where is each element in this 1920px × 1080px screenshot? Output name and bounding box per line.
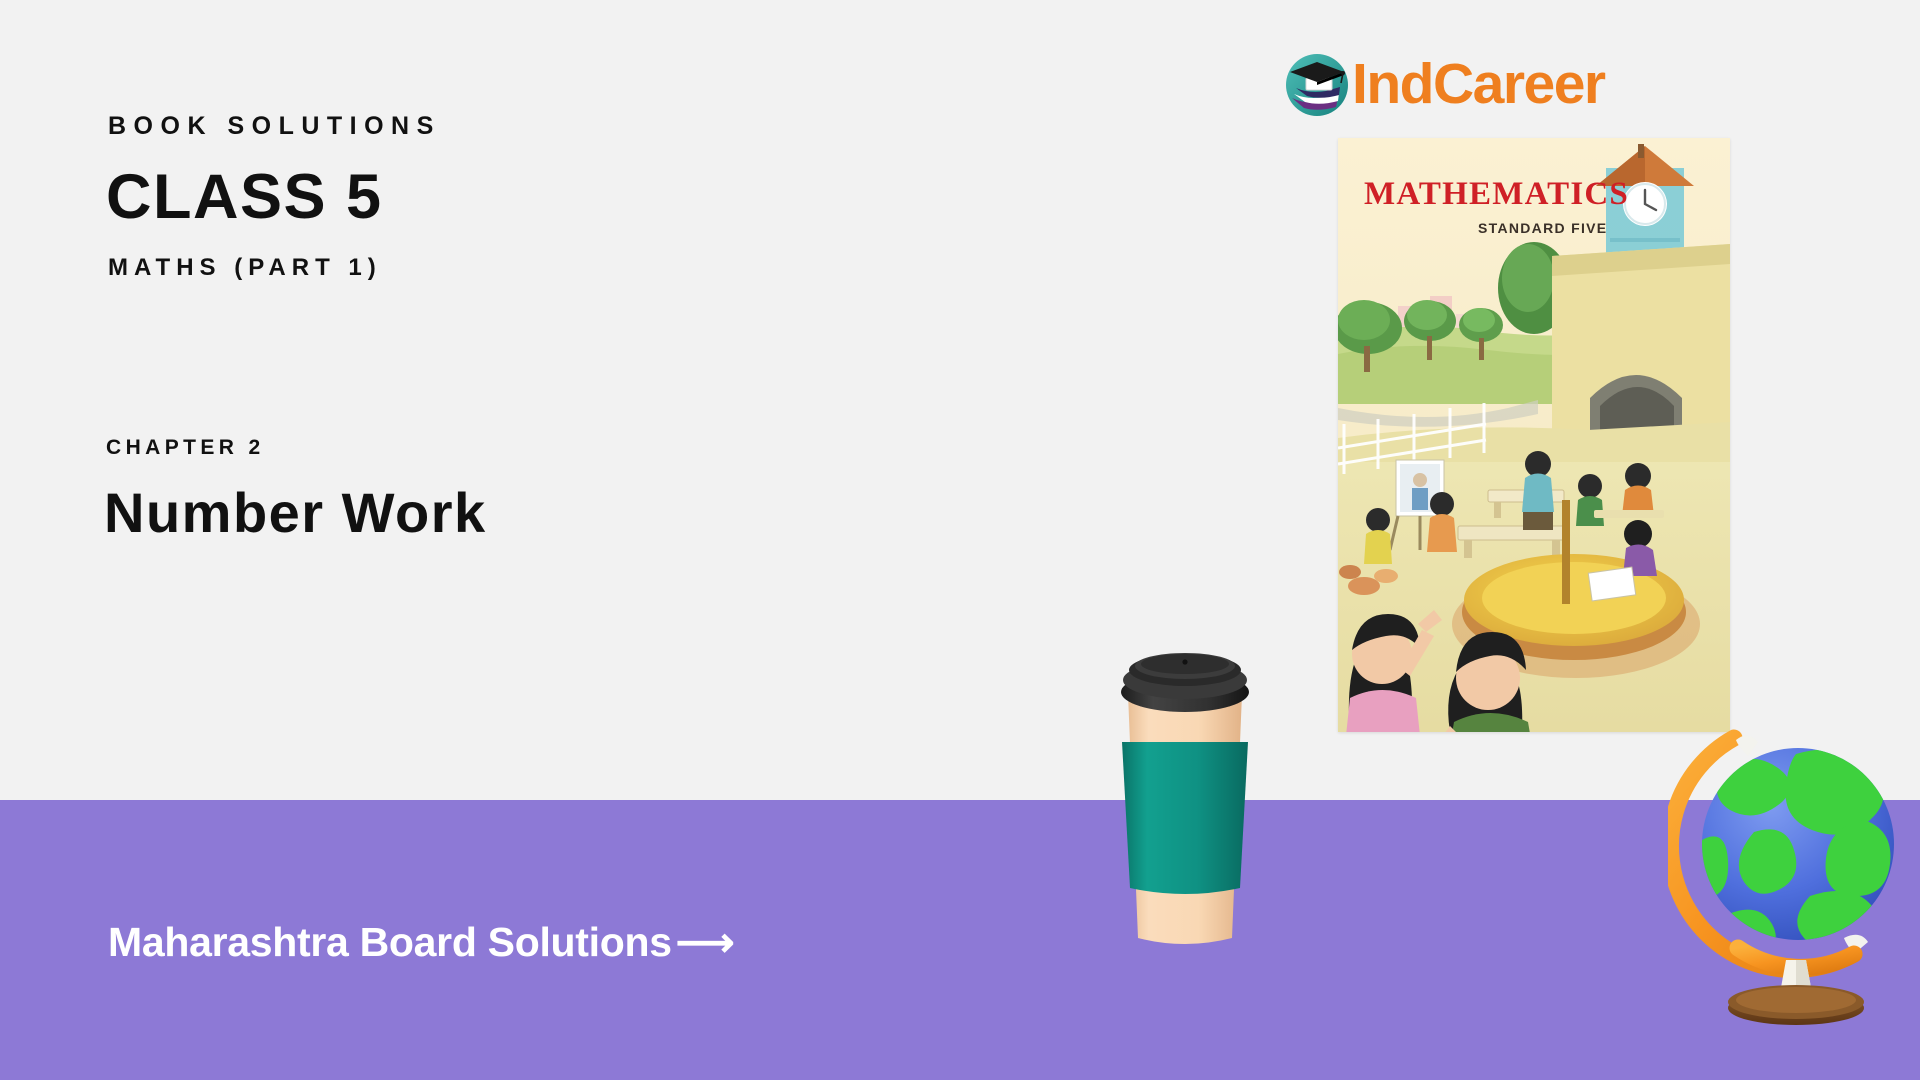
textbook-cover-image: MATHEMATICS STANDARD FIVE xyxy=(1338,138,1730,732)
graduation-cap-books-icon xyxy=(1284,52,1350,118)
chapter-label: CHAPTER 2 xyxy=(106,436,265,460)
chapter-title: Number Work xyxy=(104,482,487,544)
coffee-cup-illustration xyxy=(1100,642,1270,952)
banner-text: Maharashtra Board Solutions xyxy=(108,919,672,966)
logo-wordmark: IndCareer xyxy=(1352,48,1605,120)
indcareer-logo[interactable]: IndCareer xyxy=(1284,50,1704,122)
globe-illustration xyxy=(1668,716,1920,1032)
right-arrow-icon: ⟶ xyxy=(676,918,734,966)
banner-cta[interactable]: Maharashtra Board Solutions ⟶ xyxy=(108,918,734,966)
subject-label: MATHS (PART 1) xyxy=(108,254,382,282)
page-title: CLASS 5 xyxy=(106,166,383,229)
slide-canvas: BOOK SOLUTIONS CLASS 5 MATHS (PART 1) CH… xyxy=(0,0,1920,1080)
book-standard-label: STANDARD FIVE xyxy=(1478,220,1607,236)
book-title: MATHEMATICS xyxy=(1364,176,1629,213)
eyebrow-label: BOOK SOLUTIONS xyxy=(108,112,441,141)
